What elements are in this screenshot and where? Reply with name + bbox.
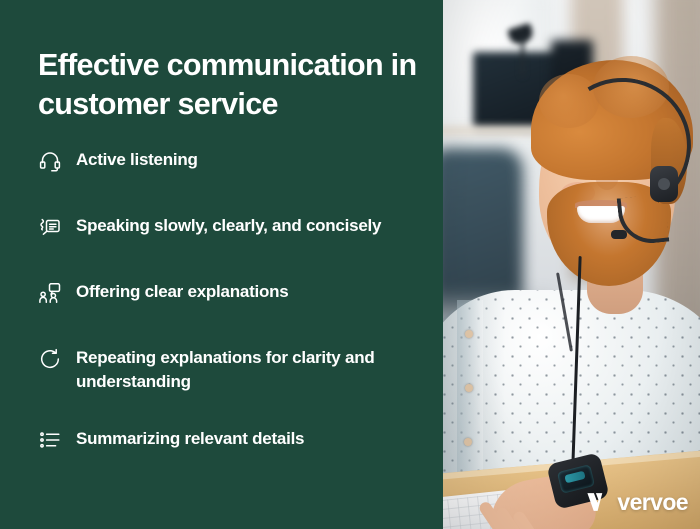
infographic-card: Effective communication in customer serv… bbox=[0, 0, 700, 529]
list-item-label: Active listening bbox=[76, 148, 198, 172]
list-item: Summarizing relevant details bbox=[38, 427, 430, 460]
list-item-label: Summarizing relevant details bbox=[76, 427, 304, 451]
headset-icon bbox=[38, 149, 62, 173]
bulleted-list-icon bbox=[38, 428, 62, 452]
person bbox=[443, 0, 700, 529]
list-item: Active listening bbox=[38, 148, 430, 181]
refresh-repeat-icon bbox=[38, 347, 62, 371]
list-item: Speaking slowly, clearly, and concisely bbox=[38, 214, 430, 247]
shirt-button bbox=[465, 330, 473, 338]
list-item: Offering clear explanations bbox=[38, 280, 430, 313]
list-item-label: Repeating explanations for clarity and u… bbox=[76, 346, 424, 394]
list-item-label: Speaking slowly, clearly, and concisely bbox=[76, 214, 381, 238]
page-title: Effective communication in customer serv… bbox=[38, 46, 428, 124]
green-panel: Effective communication in customer serv… bbox=[0, 0, 443, 529]
vervoe-wordmark: vervoe bbox=[617, 491, 688, 514]
vervoe-logo: vervoe bbox=[584, 489, 688, 515]
agent-photo bbox=[443, 0, 700, 529]
speech-bubble-icon bbox=[38, 215, 62, 239]
headset-microphone bbox=[611, 230, 627, 239]
shirt-button bbox=[465, 384, 473, 392]
list-item-label: Offering clear explanations bbox=[76, 280, 288, 304]
vervoe-v-mark-icon bbox=[584, 489, 610, 515]
people-speech-icon bbox=[38, 281, 62, 305]
headset-earcup-detail bbox=[658, 178, 670, 190]
list-item: Repeating explanations for clarity and u… bbox=[38, 346, 430, 394]
shirt-button bbox=[464, 438, 472, 446]
tips-list: Active listening Speaking slowly, clearl… bbox=[38, 148, 430, 460]
